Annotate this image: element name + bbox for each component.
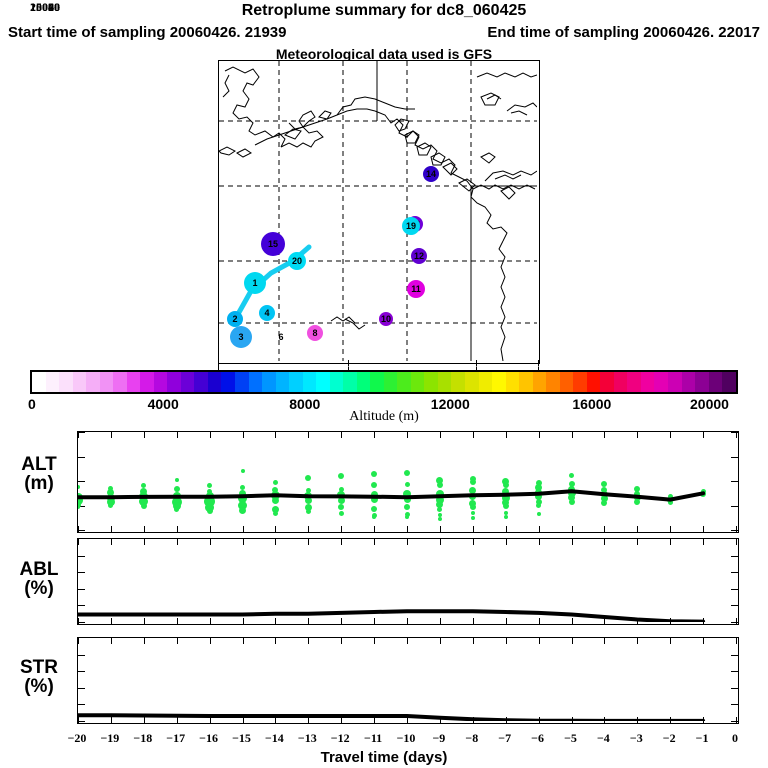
map-marker-4[interactable]: 4 <box>259 305 275 321</box>
y-tick <box>78 530 85 531</box>
y-tick-right <box>731 622 738 623</box>
colorbar-segment <box>614 372 628 392</box>
x-tick-label: −7 <box>488 731 522 746</box>
colorbar-segment <box>370 372 384 392</box>
page-title: Retroplume summary for dc8_060425 <box>0 2 768 20</box>
x-tick-label: −4 <box>586 731 620 746</box>
colorbar-segment <box>668 372 682 392</box>
abl-row-label: ABL (%) <box>8 560 70 598</box>
colorbar-segment <box>506 372 520 392</box>
colorbar-segment <box>654 372 668 392</box>
map-marker-2[interactable]: 2 <box>227 311 243 327</box>
colorbar-segment <box>100 372 114 392</box>
str-row-label: STR (%) <box>8 658 70 696</box>
alt-label-line1: ALT <box>8 455 70 474</box>
map-gridline-extension <box>218 360 219 370</box>
colorbar-segment <box>357 372 371 392</box>
x-tick-label: −13 <box>290 731 324 746</box>
colorbar-segment <box>303 372 317 392</box>
x-tick-label: −10 <box>389 731 423 746</box>
x-tick-label: −17 <box>159 731 193 746</box>
map-gridline-extension <box>476 360 477 370</box>
y-tick-right <box>731 530 738 531</box>
colorbar-segment <box>113 372 127 392</box>
x-tick-label: −1 <box>685 731 719 746</box>
colorbar-gradient <box>30 370 738 394</box>
map-marker-1[interactable]: 1 <box>244 272 266 294</box>
alt-mean-line <box>78 432 736 530</box>
map-marker-19[interactable]: 19 <box>402 217 420 235</box>
colorbar-segment <box>154 372 168 392</box>
map-marker-6[interactable]: 6 <box>276 332 286 342</box>
abl-label-line2: (%) <box>8 579 70 598</box>
colorbar-segment <box>722 372 736 392</box>
x-tick-top <box>736 638 737 644</box>
altitude-colorbar[interactable] <box>30 370 738 394</box>
x-tick-label: −18 <box>126 731 160 746</box>
colorbar-segment <box>140 372 154 392</box>
x-tick-top <box>736 539 737 545</box>
map-marker-3[interactable]: 3 <box>230 326 252 348</box>
colorbar-segment <box>438 372 452 392</box>
colorbar-segment <box>276 372 290 392</box>
colorbar-segment <box>465 372 479 392</box>
y-tick <box>78 721 85 722</box>
colorbar-segment <box>59 372 73 392</box>
colorbar-segment <box>600 372 614 392</box>
str-label-line1: STR <box>8 658 70 677</box>
colorbar-segment <box>451 372 465 392</box>
colorbar-segment <box>235 372 249 392</box>
colorbar-segment <box>330 372 344 392</box>
colorbar-segment <box>181 372 195 392</box>
y-tick-label: 80 <box>0 0 60 15</box>
alt-row-label: ALT (m) <box>8 455 70 493</box>
colorbar-segment <box>627 372 641 392</box>
x-tick-label: −6 <box>521 731 555 746</box>
colorbar-segment <box>411 372 425 392</box>
map-gridline-extension <box>348 360 349 370</box>
map-marker-15[interactable]: 15 <box>261 232 285 256</box>
colorbar-segment <box>709 372 723 392</box>
end-time-label: End time of sampling 20060426. 22017 <box>487 24 760 41</box>
str-panel[interactable] <box>77 637 739 724</box>
retroplume-map[interactable]: 12346810111213141516181920 <box>218 60 540 364</box>
x-tick-label: −11 <box>356 731 390 746</box>
colorbar-segment <box>86 372 100 392</box>
colorbar-segment <box>32 372 46 392</box>
abl-label-line1: ABL <box>8 560 70 579</box>
colorbar-segment <box>479 372 493 392</box>
map-gridline-extension <box>538 360 539 370</box>
x-tick <box>736 717 737 723</box>
x-tick-label: −19 <box>93 731 127 746</box>
y-tick <box>78 622 85 623</box>
x-tick-label: −9 <box>422 731 456 746</box>
x-tick-label: 0 <box>718 731 752 746</box>
colorbar-segment <box>560 372 574 392</box>
colorbar-segment <box>546 372 560 392</box>
str-line <box>78 638 736 721</box>
colorbar-segment <box>73 372 87 392</box>
x-tick-label: −8 <box>455 731 489 746</box>
map-marker-10[interactable]: 10 <box>379 312 393 326</box>
map-marker-8[interactable]: 8 <box>307 325 323 341</box>
x-tick-label: −15 <box>225 731 259 746</box>
colorbar-segment <box>587 372 601 392</box>
colorbar-segment <box>221 372 235 392</box>
colorbar-segment <box>289 372 303 392</box>
map-marker-12[interactable]: 12 <box>411 248 427 264</box>
colorbar-segment <box>127 372 141 392</box>
colorbar-segment <box>316 372 330 392</box>
colorbar-segment <box>194 372 208 392</box>
abl-line <box>78 539 736 622</box>
x-tick-label: −2 <box>652 731 686 746</box>
colorbar-segment <box>682 372 696 392</box>
x-tick <box>736 618 737 624</box>
x-tick-label: −14 <box>257 731 291 746</box>
x-axis-title: Travel time (days) <box>0 749 768 766</box>
colorbar-segment <box>46 372 60 392</box>
alt-panel[interactable] <box>77 431 739 533</box>
x-axis-tick-labels: −20−19−18−17−16−15−14−13−12−11−10−9−8−7−… <box>0 731 768 747</box>
colorbar-segment <box>208 372 222 392</box>
colorbar-title: Altitude (m) <box>0 409 768 425</box>
colorbar-segment <box>695 372 709 392</box>
x-tick-label: −5 <box>554 731 588 746</box>
start-time-label: Start time of sampling 20060426. 21939 <box>8 24 286 41</box>
colorbar-segment <box>641 372 655 392</box>
y-tick-right <box>731 721 738 722</box>
alt-label-line2: (m) <box>8 474 70 493</box>
colorbar-segment <box>384 372 398 392</box>
abl-panel[interactable] <box>77 538 739 625</box>
x-tick <box>736 526 737 532</box>
colorbar-segment <box>424 372 438 392</box>
map-marker-11[interactable]: 11 <box>407 280 425 298</box>
colorbar-segment <box>249 372 263 392</box>
str-label-line2: (%) <box>8 677 70 696</box>
colorbar-segment <box>397 372 411 392</box>
map-marker-20[interactable]: 20 <box>288 252 306 270</box>
map-marker-14[interactable]: 14 <box>423 166 439 182</box>
x-tick-label: −3 <box>619 731 653 746</box>
x-tick-label: −20 <box>60 731 94 746</box>
colorbar-segment <box>519 372 533 392</box>
colorbar-segment <box>492 372 506 392</box>
colorbar-segment <box>573 372 587 392</box>
x-tick-label: −16 <box>192 731 226 746</box>
colorbar-segment <box>262 372 276 392</box>
colorbar-segment <box>533 372 547 392</box>
colorbar-segment <box>167 372 181 392</box>
colorbar-segment <box>343 372 357 392</box>
x-tick-label: −12 <box>323 731 357 746</box>
